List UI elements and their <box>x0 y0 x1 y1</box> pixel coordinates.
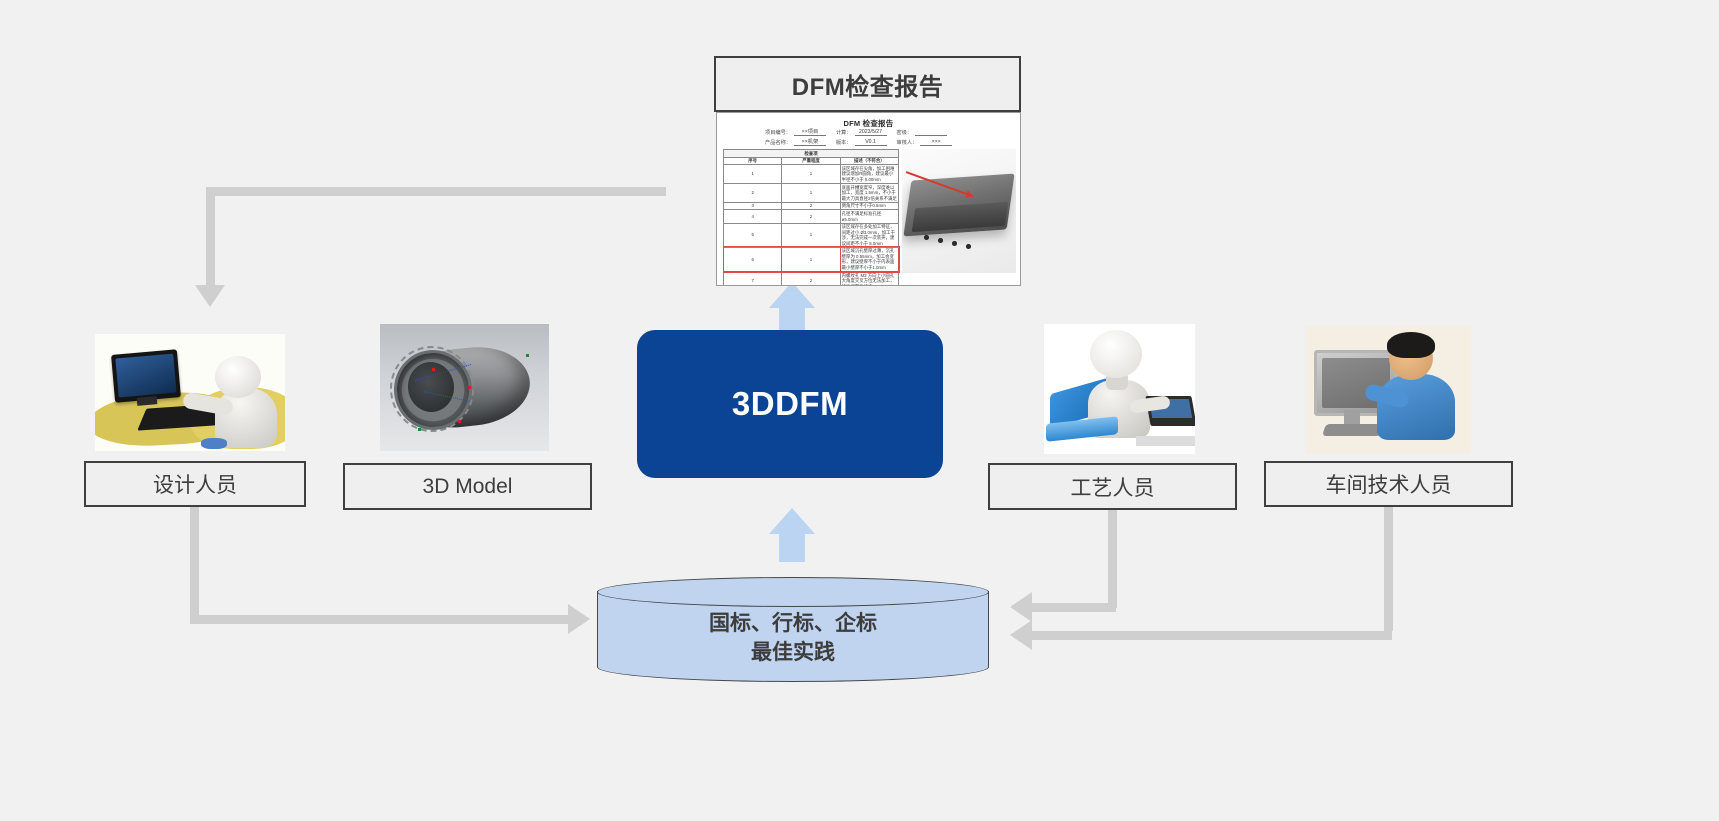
table-row: 51该区域存在多处加工特征，间距过小 Ø3.0mm，加工干涉，无法完成一次装夹，… <box>724 223 899 247</box>
connector-designer-to-repository-horizontal <box>190 615 570 624</box>
meta-value: ××× <box>920 139 952 146</box>
row-description: 倒角尺寸不小于0.5mm <box>840 202 898 210</box>
cad-model-icon <box>380 324 549 451</box>
row-index: 7 <box>724 272 782 287</box>
sidebar-item-designer[interactable]: 设计人员 <box>84 461 306 507</box>
row-severity: 2 <box>782 202 840 210</box>
standards-repository-cylinder[interactable]: 国标、行标、企标 最佳实践 <box>597 577 989 682</box>
row-index: 4 <box>724 210 782 223</box>
table-row: 61该区域沉孔壁厚过薄，沉孔壁厚为 0.55mm，加工会变形，建议壁厚不小于内表… <box>724 247 899 271</box>
meta-label: 项目编号： <box>765 129 791 136</box>
text-cursor-icon <box>885 438 887 451</box>
table-row: 72内螺纹孔 M3 方向上小圆孔大角度交叉方位无法加工，建议调整孔结构 <box>724 272 899 287</box>
report-thumb-table: 检查项 序号 严重程度 描述（不符合） 11该区域存在尖角，加工困难建议增加R圆… <box>723 149 899 286</box>
row-index: 3 <box>724 202 782 210</box>
row-severity: 1 <box>782 184 840 203</box>
process-label: 工艺人员 <box>1071 472 1155 502</box>
row-index: 6 <box>724 247 782 271</box>
row-description: 底面开槽宽度窄，深度难以加工，宽度 1.5mm，不小于最大刀具直径2倍关系不满足 <box>840 184 898 203</box>
table-col-no: 序号 <box>724 157 782 165</box>
repository-label-line-2: 最佳实践 <box>597 639 989 668</box>
row-description: 内螺纹孔 M3 方向上小圆孔大角度交叉方位无法加工，建议调整孔结构 <box>840 272 898 287</box>
connector-process-to-repository-horizontal <box>1030 603 1116 612</box>
row-index: 2 <box>724 184 782 203</box>
shop-label: 车间技术人员 <box>1326 469 1452 499</box>
table-col-desc: 描述（不符合） <box>840 157 898 165</box>
arrowhead-process-to-repository <box>1010 592 1032 622</box>
row-description: 孔径不满足标准孔径 ø5.0mm <box>840 210 898 223</box>
repository-label-line-1: 国标、行标、企标 <box>597 610 989 639</box>
model-label: 3D Model <box>423 475 513 499</box>
meta-value: 2023/5/27 <box>855 129 887 136</box>
table-row: 21底面开槽宽度窄，深度难以加工，宽度 1.5mm，不小于最大刀具直径2倍关系不… <box>724 184 899 203</box>
meta-label: 密级： <box>897 129 913 136</box>
sidebar-item-process-engineer[interactable]: 工艺人员 <box>988 463 1237 510</box>
report-thumb-meta-row-2: 产品名称：××机架 版本：V0.1 审核人：××× <box>765 138 1006 146</box>
row-description: 该区域存在尖角，加工困难建议增加R圆角，建议最小半径不小于 5.00mm <box>840 165 898 184</box>
meta-label: 审核人： <box>897 139 918 146</box>
core-system-label: 3DDFM <box>732 385 848 423</box>
table-row: 42孔径不满足标准孔径 ø5.0mm <box>724 210 899 223</box>
part-hole <box>924 235 929 240</box>
connector-shop-to-repository-vertical <box>1384 507 1393 631</box>
arrowhead-shop-to-repository <box>1010 620 1032 650</box>
row-severity: 1 <box>782 223 840 247</box>
meta-value: V0.1 <box>855 139 887 146</box>
arrow-head <box>769 508 815 534</box>
person-in-chair-icon <box>1044 324 1195 454</box>
diagram-canvas: DFM检查报告 DFM 检查报告 项目编号：××项目 计算：2023/5/27 … <box>0 0 1719 821</box>
connector-process-to-repository-vertical <box>1108 510 1117 608</box>
technician-at-monitor-icon <box>1306 326 1471 454</box>
table-band: 检查项 <box>724 150 899 158</box>
meta-value: ××项目 <box>794 128 826 136</box>
part-hole <box>966 244 971 249</box>
arrow-core-to-report <box>757 282 827 332</box>
arrow-repository-to-core <box>757 508 827 562</box>
meta-label: 版本： <box>836 139 852 146</box>
arrow-shaft <box>779 306 805 332</box>
connector-report-to-designer-vertical <box>206 187 215 287</box>
connector-shop-to-repository-horizontal <box>1030 631 1392 640</box>
sidebar-item-3d-model[interactable]: 3D Model <box>343 463 592 510</box>
part-hole <box>952 241 957 246</box>
row-severity: 2 <box>782 272 840 287</box>
report-thumbnail: DFM 检查报告 项目编号：××项目 计算：2023/5/27 密级： 产品名称… <box>716 112 1021 286</box>
meta-value <box>915 135 947 136</box>
meta-label: 计算： <box>836 129 852 136</box>
part-hole <box>938 238 943 243</box>
row-index: 5 <box>724 223 782 247</box>
sidebar-item-shop-technician[interactable]: 车间技术人员 <box>1264 461 1513 507</box>
report-title-text: DFM检查报告 <box>792 67 943 102</box>
person-at-computer-icon <box>95 334 285 451</box>
row-severity: 2 <box>782 210 840 223</box>
table-row: 32倒角尺寸不小于0.5mm <box>724 202 899 210</box>
table-col-level: 严重程度 <box>782 157 840 165</box>
report-thumb-meta-row-1: 项目编号：××项目 计算：2023/5/27 密级： <box>765 128 1006 136</box>
report-thumb-part-image <box>902 149 1016 273</box>
row-index: 1 <box>724 165 782 184</box>
arrowhead-designer-to-repository <box>568 604 590 634</box>
meta-label: 产品名称： <box>765 139 791 146</box>
arrow-shaft <box>779 534 805 562</box>
row-severity: 1 <box>782 165 840 184</box>
row-severity: 1 <box>782 247 840 271</box>
core-system-box[interactable]: 3DDFM <box>637 330 943 478</box>
table-row: 11该区域存在尖角，加工困难建议增加R圆角，建议最小半径不小于 5.00mm <box>724 165 899 184</box>
meta-value: ××机架 <box>794 138 826 146</box>
connector-designer-to-repository-vertical <box>190 507 199 620</box>
row-description: 该区域存在多处加工特征，间距过小 Ø3.0mm，加工干涉，无法完成一次装夹，建议… <box>840 223 898 247</box>
cylinder-top <box>597 577 989 607</box>
connector-report-to-designer-horizontal <box>206 187 666 196</box>
report-thumb-header: DFM 检查报告 项目编号：××项目 计算：2023/5/27 密级： 产品名称… <box>723 117 1014 143</box>
arrowhead-report-to-designer <box>195 285 225 307</box>
designer-label: 设计人员 <box>153 469 237 499</box>
row-description: 该区域沉孔壁厚过薄，沉孔壁厚为 0.55mm，加工会变形，建议壁厚不小于内表面最… <box>840 247 898 271</box>
report-title-box: DFM检查报告 <box>714 56 1021 112</box>
repository-label: 国标、行标、企标 最佳实践 <box>597 610 989 668</box>
